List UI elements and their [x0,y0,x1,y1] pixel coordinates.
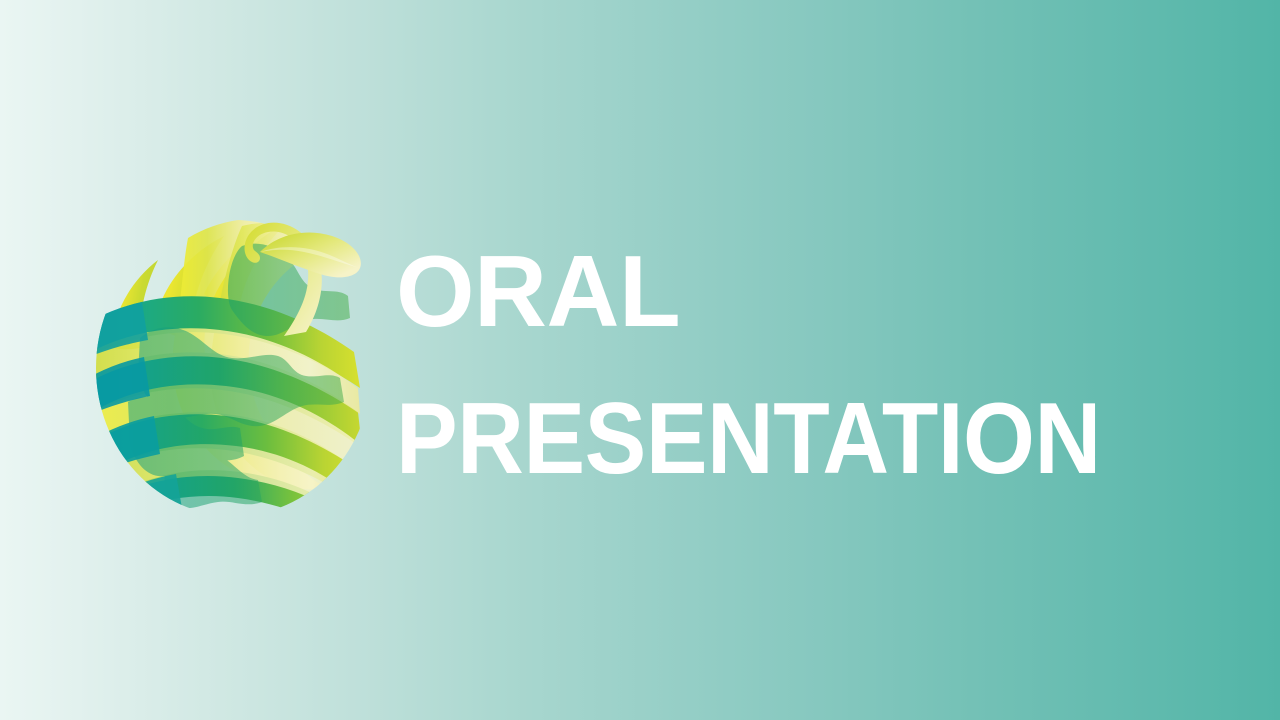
presentation-slide: ORAL PRESENTATION [0,0,1280,720]
globe-logo-svg [92,206,380,516]
slide-title: ORAL PRESENTATION [396,238,1226,490]
title-line-presentation: PRESENTATION [396,343,1155,490]
title-line-oral: ORAL [396,238,1226,343]
globe-ribbon-leaf-logo [92,206,380,516]
